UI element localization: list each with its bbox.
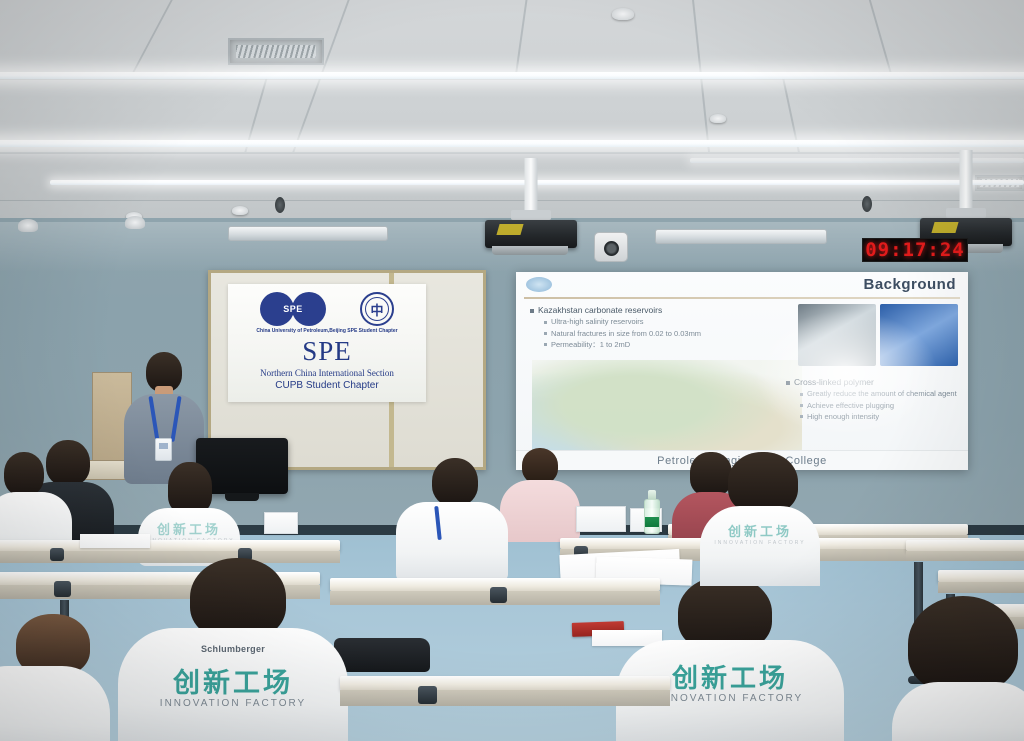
desk-right-back: [906, 540, 1024, 568]
shirt-chinese-text: 创新工场: [160, 670, 306, 697]
cupb-seal-icon: 中: [360, 292, 394, 326]
beaker-blue-gel-photo: [880, 304, 958, 366]
attendee-front-row-left: Schlumberger 创新工场 INNOVATION FACTORY: [118, 558, 348, 741]
ceiling-projector-center: [485, 158, 577, 248]
student-torso: [892, 682, 1024, 741]
tent-name-card: [576, 506, 626, 532]
attendee-head: [522, 448, 558, 484]
slide-bullet: Achieve effective plugging: [800, 400, 960, 411]
attendee-edge-right-dark: [892, 596, 1024, 741]
smoke-detector-icon: [612, 8, 634, 20]
slide-right-column: Cross-linked polymer Greatly reduce the …: [780, 376, 960, 422]
bottle-label: [645, 517, 659, 527]
dome-camera-icon: [125, 216, 145, 229]
smoke-detector-icon: [232, 206, 248, 215]
poster-title: SPE: [228, 338, 426, 365]
shirt-english-text: INNOVATION FACTORY: [714, 541, 805, 546]
shirt-logo-graphic: 创新工场 INNOVATION FACTORY: [160, 670, 306, 709]
poster-logo-row: SPE 中: [228, 292, 426, 326]
slide-bullet: Permeability：1 to 2mD: [544, 339, 804, 350]
wall-light-fixture-left: [228, 226, 388, 241]
attendee-center-pink: [500, 448, 580, 540]
ceiling-speaker-icon: [862, 196, 872, 212]
student-head: [728, 452, 798, 514]
spe-banner-poster: SPE 中 China University of Petroleum,Beij…: [228, 284, 426, 402]
beaker-clear-gel-photo: [798, 304, 876, 366]
shirt-logo-graphic: 创新工场 INNOVATION FACTORY: [714, 526, 805, 546]
attendee-torso: [500, 480, 580, 542]
slide-bullet: Cross-linked polymer: [786, 376, 960, 388]
spe-globe-icon: SPE: [260, 292, 326, 326]
slide-title: Background: [863, 276, 956, 293]
slide-bullet: High enough intensity: [800, 411, 960, 422]
attendee-head: [168, 462, 212, 514]
attendee-foreground-left-edge: [0, 600, 110, 741]
ceiling-speaker-icon: [275, 197, 285, 213]
lecture-hall-photo: 09:17:24 SPE 中 China University of Petro…: [0, 0, 1024, 741]
shirt-english-text: INNOVATION FACTORY: [657, 694, 803, 704]
desk-row-third-center: [330, 578, 660, 618]
ceiling-light-strip: [0, 140, 1024, 147]
slide-bullet: Ultra-high salinity reservoirs: [544, 316, 804, 327]
poster-section-line: Northern China International Section: [228, 368, 426, 378]
slide-bullet: Kazakhstan carbonate reservoirs: [530, 304, 804, 316]
spe-logo-text: SPE: [280, 303, 306, 315]
presenter-id-badge: [155, 438, 172, 461]
attendee-edge-right: 创新工场 INNOVATION FACTORY: [700, 452, 820, 582]
projection-screen: Background Kazakhstan carbonate reservoi…: [516, 272, 968, 470]
slide-photo-row: [798, 304, 958, 366]
bottle-body: [644, 499, 660, 534]
attendee-front-row-right: 创新工场 INNOVATION FACTORY: [616, 576, 844, 741]
shoulder-bag: [334, 638, 430, 672]
poster-chapter-line: CUPB Student Chapter: [228, 380, 426, 391]
slide-logo-icon: [526, 277, 552, 292]
tent-name-card: [264, 512, 298, 534]
student-torso: [700, 506, 820, 586]
clock-time-text: 09:17:24: [865, 239, 965, 261]
ceiling-projector-right: [920, 150, 1012, 246]
student-head: [908, 596, 1018, 692]
shirt-logo-graphic: 创新工场 INNOVATION FACTORY: [657, 666, 803, 704]
slide-bullet: Greatly reduce the amount of chemical ag…: [800, 388, 960, 399]
presentation-slide: Background Kazakhstan carbonate reservoi…: [516, 272, 968, 470]
attendee-head: [432, 458, 478, 506]
dome-camera-icon: [18, 219, 38, 232]
attendee-head: [4, 452, 44, 496]
led-wall-clock: 09:17:24: [862, 238, 968, 262]
poster-logo-caption: China University of Petroleum,Beijing SP…: [228, 328, 426, 334]
shirt-chinese-text: 创新工场: [143, 524, 234, 537]
water-bottle: [644, 490, 660, 534]
wall-light-fixture-right: [655, 229, 827, 244]
smoke-detector-icon: [710, 114, 726, 123]
air-vent-icon: [228, 38, 324, 65]
shirt-chinese-text: 创新工场: [714, 526, 805, 539]
slide-title-rule: [524, 297, 960, 299]
handout-paper: [80, 534, 150, 548]
student-torso: [0, 666, 110, 741]
slide-bullet: Natural fractures in size from 0.02 to 0…: [544, 328, 804, 339]
ceiling-light-strip: [0, 72, 1024, 79]
attendee-center-white: [396, 458, 508, 580]
ceiling-camera-icon: [594, 232, 628, 262]
desk-row-front: [340, 676, 670, 710]
shirt-english-text: INNOVATION FACTORY: [160, 699, 306, 709]
shirt-chinese-text: 创新工场: [657, 666, 803, 692]
attendee-torso: [396, 502, 508, 582]
shirt-sponsor-text: Schlumberger: [201, 644, 265, 654]
